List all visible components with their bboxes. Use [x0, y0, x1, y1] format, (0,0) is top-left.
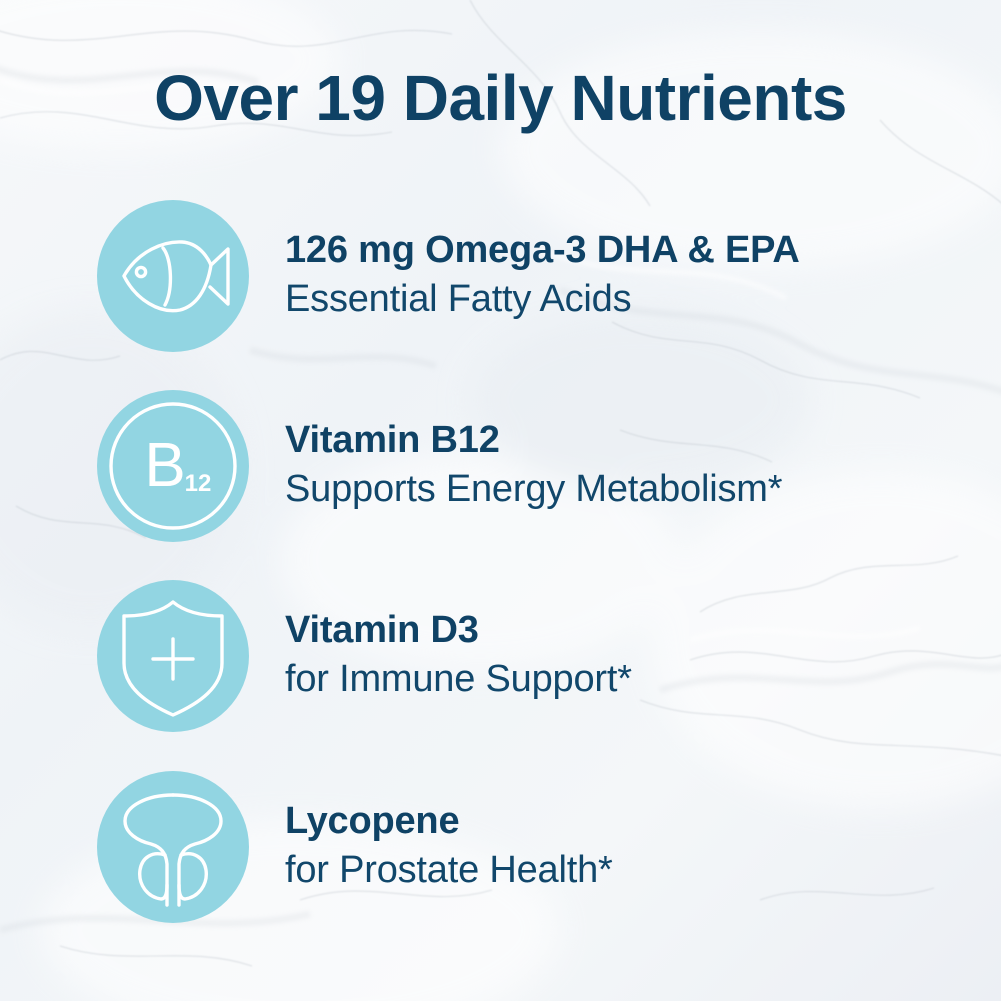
b12-letter-label: B	[144, 431, 185, 500]
fish-icon	[97, 200, 249, 352]
prostate-icon	[97, 771, 249, 923]
nutrient-row: B 12 Vitamin B12 Supports Energy Metabol…	[97, 390, 967, 542]
shield-plus-icon	[97, 580, 249, 732]
b12-subscript-label: 12	[185, 470, 212, 497]
page-title: Over 19 Daily Nutrients	[0, 62, 1001, 136]
nutrient-row: Lycopene for Prostate Health*	[97, 771, 967, 923]
nutrient-benefits-panel: Over 19 Daily Nutrients 126 mg Omega-3 D…	[0, 0, 1001, 1001]
nutrient-primary-label: Vitamin D3	[285, 606, 967, 655]
nutrient-text: 126 mg Omega-3 DHA & EPA Essential Fatty…	[249, 226, 967, 325]
nutrient-row: Vitamin D3 for Immune Support*	[97, 580, 967, 732]
nutrient-text: Vitamin B12 Supports Energy Metabolism*	[249, 416, 967, 515]
nutrient-text: Lycopene for Prostate Health*	[249, 797, 967, 896]
nutrient-primary-label: Vitamin B12	[285, 416, 967, 465]
nutrient-secondary-label: Essential Fatty Acids	[285, 275, 967, 324]
nutrient-secondary-label: Supports Energy Metabolism*	[285, 465, 967, 514]
nutrient-primary-label: Lycopene	[285, 797, 967, 846]
nutrient-secondary-label: for Prostate Health*	[285, 846, 967, 895]
nutrient-secondary-label: for Immune Support*	[285, 655, 967, 704]
nutrient-text: Vitamin D3 for Immune Support*	[249, 606, 967, 705]
nutrient-primary-label: 126 mg Omega-3 DHA & EPA	[285, 226, 967, 275]
vitamin-b12-icon: B 12	[97, 390, 249, 542]
nutrient-row: 126 mg Omega-3 DHA & EPA Essential Fatty…	[97, 200, 967, 352]
